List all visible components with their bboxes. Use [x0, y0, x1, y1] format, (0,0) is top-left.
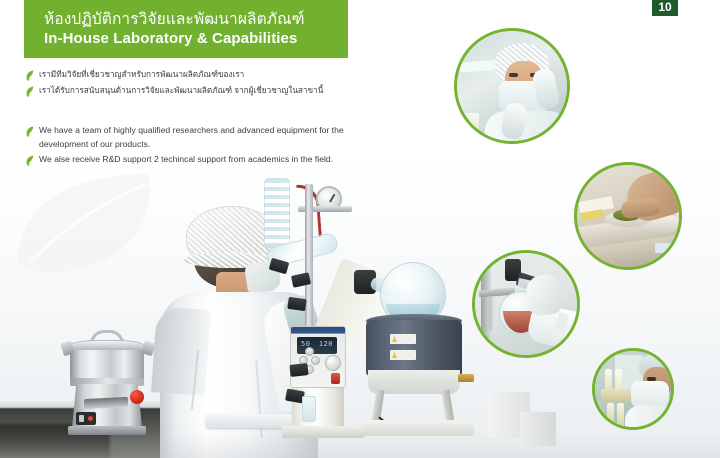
- lab-clamp: [289, 363, 308, 377]
- leaf-bullet-icon: [26, 86, 34, 97]
- photo-content: [475, 253, 577, 355]
- leaf-bullet-icon: [26, 126, 34, 137]
- warning-label-icon: [390, 350, 416, 360]
- display-right-value: 120: [319, 340, 333, 348]
- lab-coat: [485, 111, 569, 144]
- bench-box: [520, 412, 556, 446]
- lab-coat: [625, 405, 674, 430]
- photo-circle-researcher-test-tube: [454, 28, 570, 144]
- test-tube-rack: [601, 389, 631, 401]
- herb-grinder-machine: [62, 328, 154, 438]
- photo-content: [457, 31, 567, 141]
- leaf-bullet-icon: [26, 70, 34, 81]
- speed-knob[interactable]: [325, 355, 341, 371]
- photo-circle-flask-red-liquid: [472, 250, 580, 358]
- equipment-label: [655, 243, 677, 253]
- title-thai: ห้องปฏิบัติการวิจัยและพัฒนาผลิตภัณฑ์: [44, 10, 348, 29]
- panel-right-button[interactable]: [311, 356, 320, 365]
- grinder-foot: [68, 426, 146, 435]
- slide-title-bar: ห้องปฏิบัติการวิจัยและพัฒนาผลิตภัณฑ์ In-…: [24, 0, 348, 58]
- rotary-evaporator: 50 120: [262, 178, 472, 458]
- heating-bath: [366, 320, 462, 376]
- condenser-coil-column: [264, 178, 290, 248]
- grinder-control-panel: [76, 412, 96, 425]
- list-item-label: We alse receive R&D support 2 techincal …: [39, 153, 333, 167]
- drain-valve: [458, 374, 474, 382]
- list-item-label: เราได้รับการสนับสนุนด้านการวิจัยและพัฒนา…: [39, 84, 323, 97]
- photo-circle-test-tube-rack: [592, 348, 674, 430]
- photo-content: [595, 351, 671, 427]
- grinder-switch-icon: [79, 415, 84, 422]
- list-item: We alse receive R&D support 2 techincal …: [26, 153, 366, 167]
- panel-up-button[interactable]: [305, 347, 314, 356]
- evaporator-foot: [282, 426, 364, 438]
- power-switch[interactable]: [331, 373, 340, 384]
- warning-label-icon: [390, 334, 416, 344]
- control-panel-display: 50 120: [297, 337, 337, 354]
- leaf-bullet-icon: [26, 155, 34, 166]
- title-english: In-House Laboratory & Capabilities: [44, 29, 348, 48]
- stand-rod: [489, 297, 495, 331]
- evaporator-control-panel[interactable]: 50 120: [290, 326, 346, 388]
- grinder-power-led-icon: [88, 416, 93, 421]
- beaker: [461, 113, 479, 137]
- lab-clamp: [287, 297, 306, 311]
- english-bullet-list: We have a team of highly qualified resea…: [26, 124, 366, 169]
- grinder-red-button-icon: [130, 390, 144, 404]
- photo-circle-sample-weighing: [574, 162, 682, 270]
- glass-vial: [302, 396, 316, 422]
- slide-canvas: 50 120 ห้องปฏิบัติการวิจัยและพัฒนาผลิตภั…: [0, 0, 720, 458]
- scientist-left-shoulder: [151, 306, 211, 396]
- page-number-badge: 10: [652, 0, 678, 16]
- list-item-label: We have a team of highly qualified resea…: [39, 124, 366, 151]
- list-item-label: เรามีทีมวิจัยที่เชี่ยวชาญสำหรับการพัฒนาผ…: [39, 68, 244, 81]
- equipment-tray: [358, 420, 474, 436]
- test-tube: [607, 403, 614, 429]
- list-item: We have a team of highly qualified resea…: [26, 124, 366, 151]
- thai-bullet-list: เรามีทีมวิจัยที่เชี่ยวชาญสำหรับการพัฒนาผ…: [26, 68, 426, 100]
- photo-content: [577, 165, 679, 267]
- list-item: เราได้รับการสนับสนุนด้านการวิจัยและพัฒนา…: [26, 84, 426, 97]
- list-item: เรามีทีมวิจัยที่เชี่ยวชาญสำหรับการพัฒนาผ…: [26, 68, 426, 81]
- test-tube: [617, 403, 624, 429]
